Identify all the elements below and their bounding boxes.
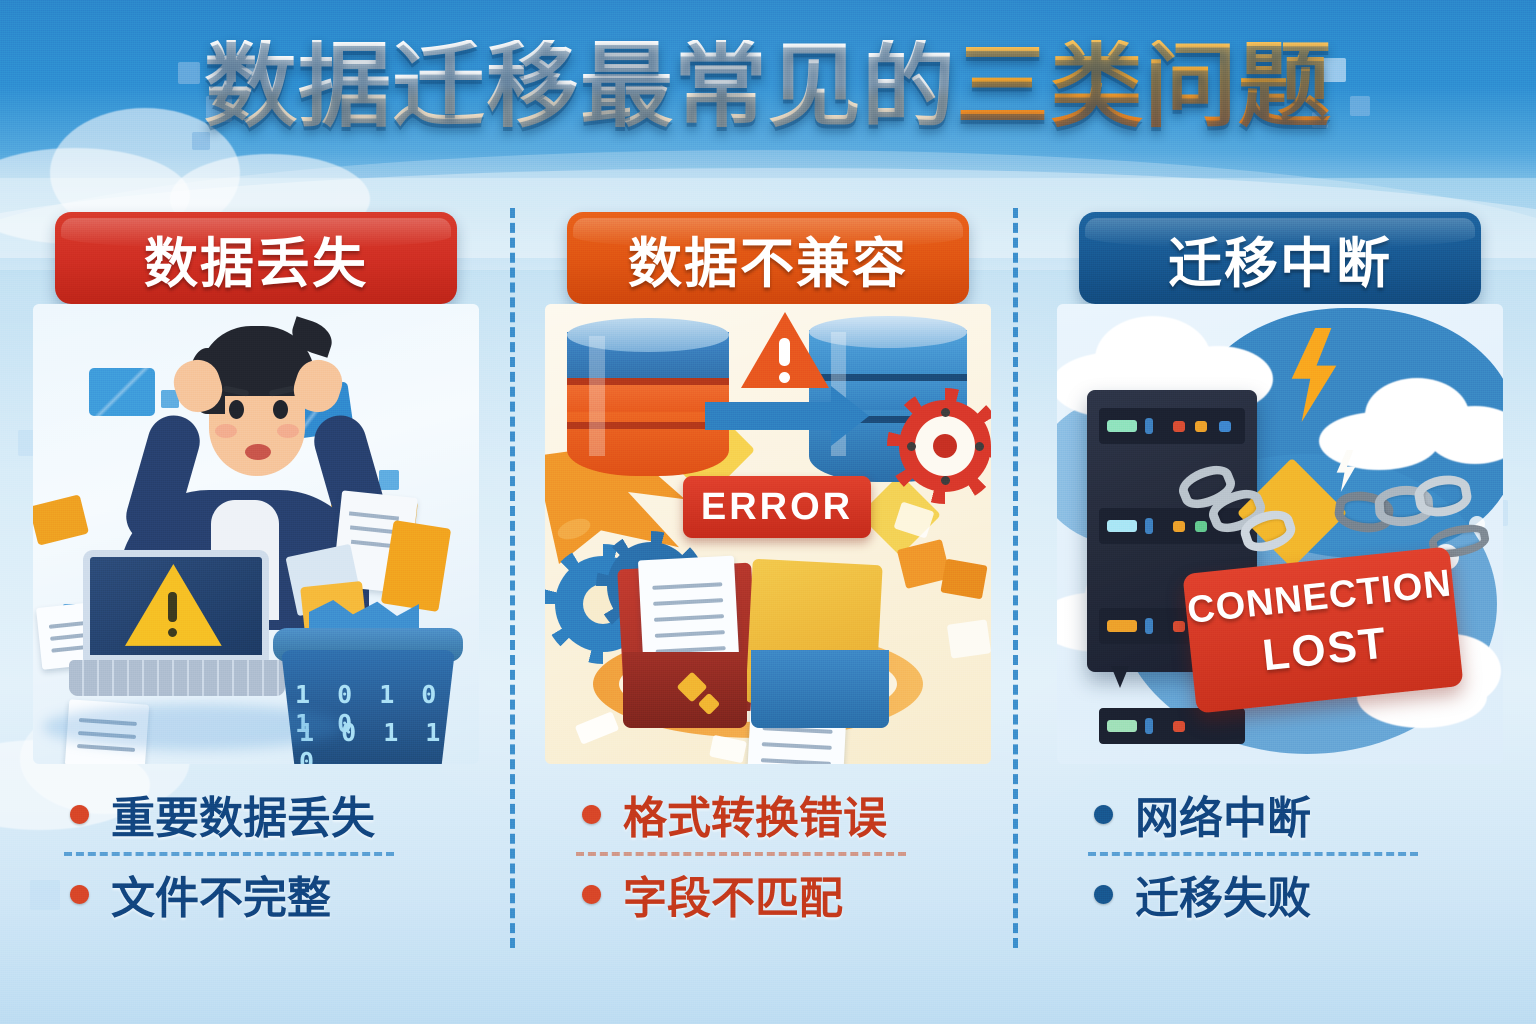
texture-overlay	[0, 0, 1536, 1024]
infographic-poster: 数据迁移最常见的 三类问题 数据丢失	[0, 0, 1536, 1024]
